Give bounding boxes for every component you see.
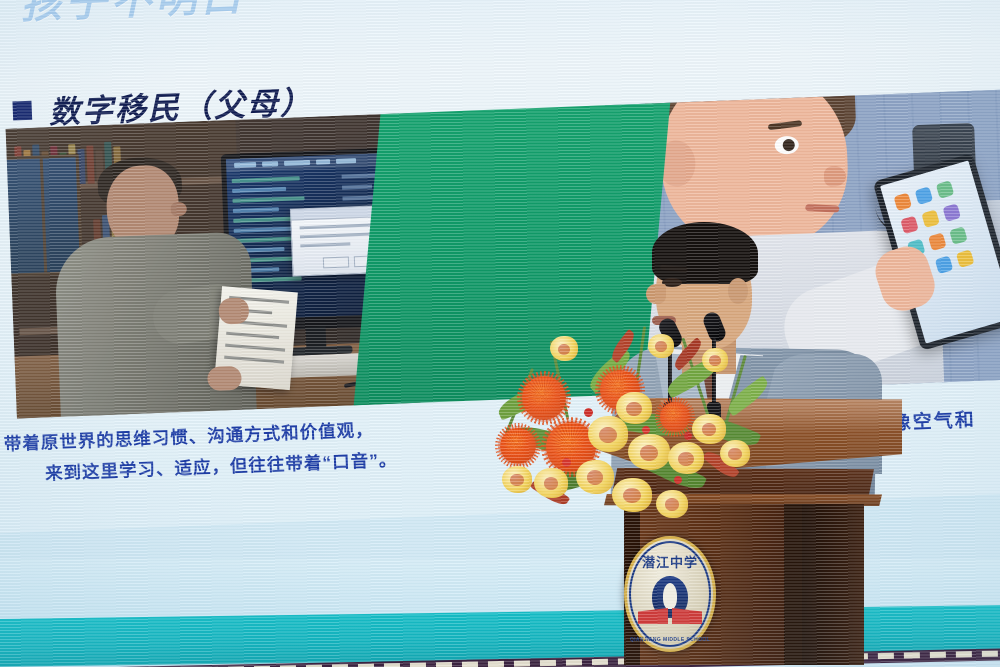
orchid-flower	[628, 434, 670, 470]
orchid-flower	[702, 348, 728, 372]
orchid-flower	[576, 460, 614, 494]
protea-flower	[660, 402, 690, 432]
orchid-flower	[550, 336, 578, 361]
orchid-flower	[648, 334, 674, 358]
orchid-flower	[616, 392, 652, 424]
hair	[652, 222, 758, 284]
school-emblem: 潜江中学 QIANJIANG MIDDLE SCHOOL	[624, 536, 716, 652]
orchid-flower	[502, 466, 532, 493]
floral-arrangement	[488, 318, 788, 538]
slide-caption-left: 带着原世界的思维习惯、沟通方式和价值观， 来到这里学习、适应，但往往带着“口音”…	[3, 411, 475, 491]
emblem-english-name: QIANJIANG MIDDLE SCHOOL	[624, 637, 716, 643]
bullet-square-icon	[12, 101, 32, 121]
conference-photo-scene: 孩子不明白 数字移民（父母） 数字原住民	[0, 0, 1000, 667]
orchid-flower	[534, 468, 568, 498]
slide-title: 孩子不明白	[19, 0, 246, 30]
slide-caption-right: 像空气和	[891, 405, 976, 435]
emblem-chinese-name: 潜江中学	[624, 552, 716, 571]
orchid-flower	[720, 440, 750, 467]
orchid-flower	[612, 478, 652, 512]
protea-flower	[522, 376, 566, 420]
ear	[728, 278, 748, 304]
orchid-flower	[692, 414, 726, 444]
adult-man-graphic	[51, 159, 257, 417]
orchid-flower	[668, 442, 704, 474]
podium-shadow-side	[802, 504, 864, 665]
open-book-icon	[638, 608, 702, 626]
orchid-flower	[656, 490, 688, 518]
orchid-flower	[588, 416, 628, 452]
protea-flower	[500, 428, 536, 464]
nose	[646, 284, 666, 304]
